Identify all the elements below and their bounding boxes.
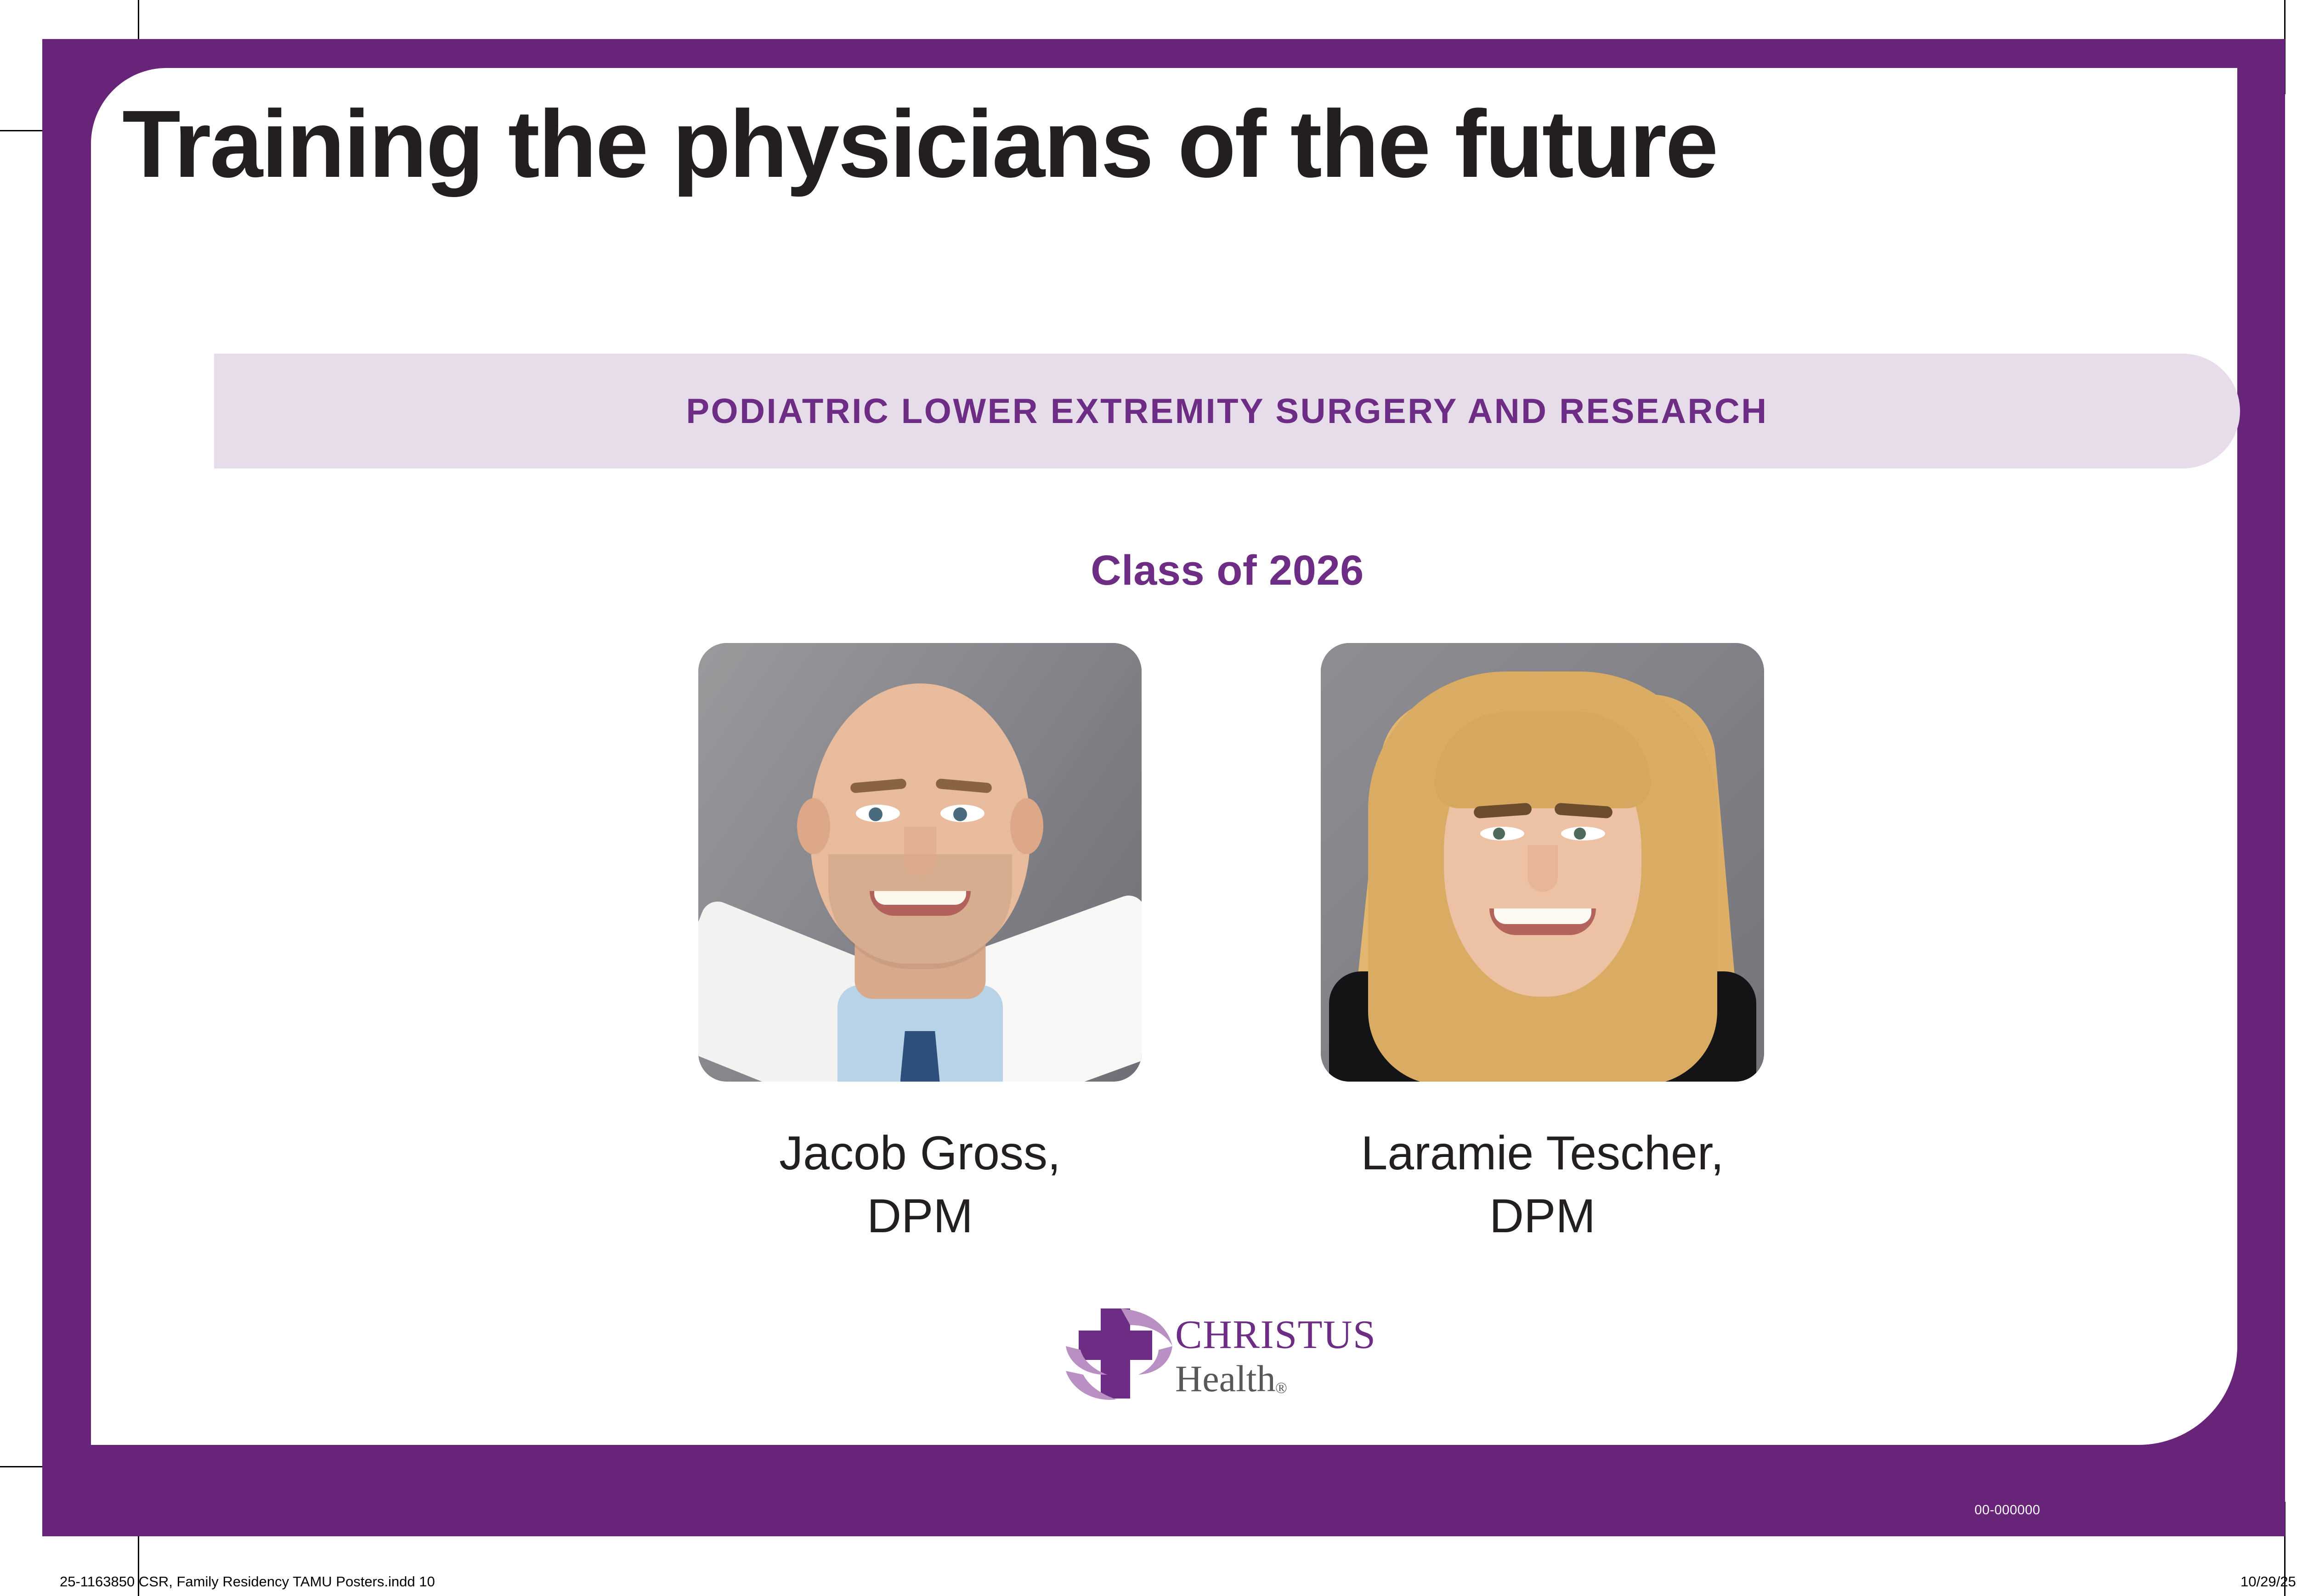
page-title: Training the physicians of the future [122,94,2029,194]
logo-wordmark: CHRISTUS [1175,1313,1376,1357]
necktie [900,1031,940,1082]
resident-name-label: Laramie Tescher, DPM [1361,1122,1724,1248]
resident-name-label: Jacob Gross, DPM [779,1122,1061,1248]
resident-card-jacob-gross: Jacob Gross, DPM [698,643,1142,1248]
nose [904,827,936,876]
poster-page: 00-000000 Training the physicians of the… [0,0,2297,1596]
hair-front [1435,712,1651,808]
job-code-label: 00-000000 [1975,1503,2040,1518]
program-banner-label: PODIATRIC LOWER EXTREMITY SURGERY AND RE… [686,391,1768,431]
laramie-tescher-headshot-photo [1321,643,1764,1082]
pupil-left [869,807,883,821]
print-slug-right: 10/29/25 11:39 AM [2240,1573,2297,1590]
logo-subword: Health [1175,1358,1276,1399]
teeth [874,891,966,905]
class-year-text: Class of 2026 [1091,547,1364,594]
ear-left [797,798,830,854]
teeth [1494,908,1591,924]
registered-mark: ® [1275,1380,1287,1397]
jacob-gross-headshot-photo [698,643,1142,1082]
pupil-right [953,807,967,821]
pupil-right [1574,828,1586,840]
pupil-left [1493,828,1505,840]
program-banner: PODIATRIC LOWER EXTREMITY SURGERY AND RE… [214,354,2240,468]
print-slug-left: 25-1163850 CSR, Family Residency TAMU Po… [60,1573,435,1590]
residents-row: Jacob Gross, DPM [698,643,1764,1248]
class-year-heading: Class of 2026 [0,547,2297,595]
ear-right [1010,798,1043,854]
christus-health-logo: CHRISTUS Health ® [1052,1302,1392,1408]
resident-card-laramie-tescher: Laramie Tescher, DPM [1321,643,1764,1248]
nose [1528,845,1558,892]
